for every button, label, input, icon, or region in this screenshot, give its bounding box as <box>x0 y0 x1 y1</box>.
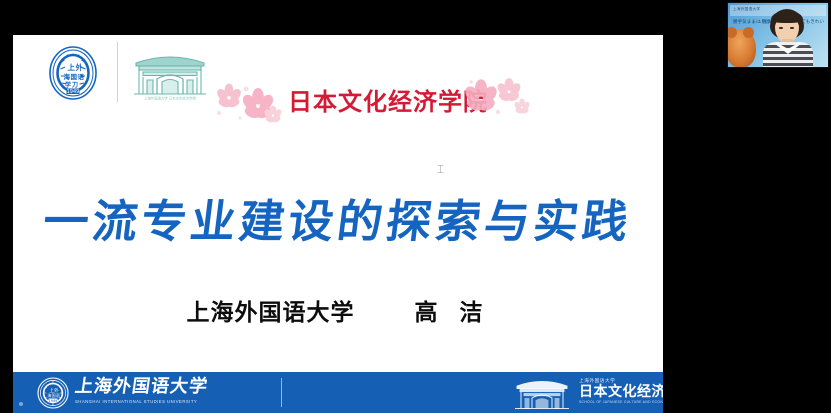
svg-text:国: 国 <box>71 72 78 81</box>
cursor-marker: ⌶ <box>437 163 446 177</box>
slide-main-title: 一流专业建设的探索与实践 <box>13 185 663 250</box>
presenter-fringe <box>771 11 803 23</box>
footer-university-block: 上海外国语大学 SHANGHAI INTERNATIONAL STUDIES U… <box>75 377 208 404</box>
svg-text:上海外国语大学 日本文化经济学院: 上海外国语大学 日本文化经济学院 <box>144 96 197 101</box>
footer-divider <box>281 378 282 407</box>
presenter-name: 高 洁 <box>415 300 490 326</box>
presentation-slide[interactable]: 上 外 海 国 语 学 刀 1949 <box>13 35 663 413</box>
svg-text:语: 语 <box>56 392 60 398</box>
college-name-title: 日本文化经济学院 <box>288 82 488 117</box>
svg-text:学: 学 <box>65 81 71 89</box>
svg-text:语: 语 <box>78 72 85 81</box>
presenter-figure <box>763 9 813 67</box>
sakura-blossom-icon <box>465 77 531 121</box>
campus-gate-icon: 上海外国语大学 日本文化经济学院 <box>131 47 209 102</box>
presenter-eye <box>790 27 794 29</box>
footer-university-cn: 上海外国语大学 <box>74 377 210 397</box>
footer-college-cn: 日本文化经济学院 <box>579 384 663 400</box>
presenter-affiliation: 上海外国语大学 <box>186 300 354 326</box>
sisu-seal-icon: 上 外 海 国 语 学 刀 1949 <box>47 45 99 101</box>
svg-text:海: 海 <box>64 72 71 81</box>
svg-text:外: 外 <box>76 62 84 72</box>
header-divider <box>117 42 118 102</box>
screen-share-stage: 上 外 海 国 语 学 刀 1949 <box>0 0 831 413</box>
footer-university-en: SHANGHAI INTERNATIONAL STUDIES UNIVERSIT… <box>75 399 208 404</box>
presenter-shirt <box>763 42 813 67</box>
svg-text:1949: 1949 <box>67 89 80 95</box>
presenter-video-thumbnail[interactable]: 上海外国语大学 勝手気ままに 散歩 いろんなところが とてもきれい <box>727 2 829 68</box>
slide-page-indicator <box>19 402 23 406</box>
svg-text:上: 上 <box>68 62 76 72</box>
svg-text:刀: 刀 <box>72 82 78 89</box>
sakura-blossom-icon <box>213 83 285 125</box>
presenter-eye <box>779 27 783 29</box>
slide-footer-bar: 上 外 海 国 语 1949 上海外国语大学 SHANGHAI INTERNAT… <box>13 372 663 413</box>
footer-college-block: 上海外国语大学 日本文化经济学院 SCHOOL OF JAPANESE CULT… <box>579 378 663 405</box>
plush-toy-ear <box>743 27 754 38</box>
plush-toy-ear <box>727 27 737 38</box>
slide-header: 上 外 海 国 语 学 刀 1949 <box>13 35 663 110</box>
svg-text:1949: 1949 <box>49 399 58 403</box>
plush-toy <box>727 29 756 67</box>
campus-gate-icon <box>513 375 571 411</box>
footer-college-en: SCHOOL OF JAPANESE CULTURE AND ECONOMICS… <box>579 400 663 405</box>
presenter-line: 上海外国语大学 高 洁 <box>13 293 663 327</box>
sisu-seal-icon: 上 外 海 国 语 1949 <box>37 377 69 409</box>
